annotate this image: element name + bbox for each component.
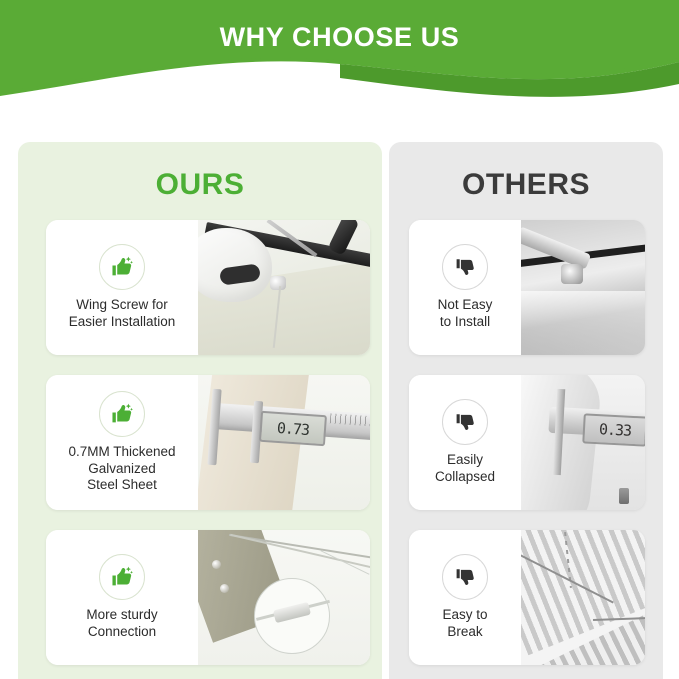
caption-line: Steel Sheet [68, 477, 175, 494]
feature-caption-others-3: Easy to Break [442, 607, 487, 640]
caption-line: to Install [438, 314, 493, 331]
feature-photo-others-2: 0.33 [521, 375, 645, 510]
caliper-display-others: 0.33 [582, 413, 645, 446]
feature-caption-ours-3: More sturdy Connection [86, 607, 157, 640]
column-heading-ours: OURS [18, 168, 382, 202]
thumbs-down-icon [442, 399, 488, 445]
feature-text-ours-1: Wing Screw for Easier Installation [46, 220, 198, 355]
feature-caption-ours-2: 0.7MM Thickened Galvanized Steel Sheet [68, 444, 175, 494]
caption-line: Collapsed [435, 469, 495, 486]
feature-caption-others-2: Easily Collapsed [435, 452, 495, 485]
feature-photo-others-3 [521, 530, 645, 665]
caption-line: Not Easy [438, 297, 493, 314]
feature-caption-others-1: Not Easy to Install [438, 297, 493, 330]
thumbs-up-icon [99, 391, 145, 437]
caption-line: Easy to [442, 607, 487, 624]
thumbs-up-icon [99, 244, 145, 290]
thumbs-down-icon [442, 244, 488, 290]
caliper-display-ours: 0.73 [259, 411, 327, 447]
feature-text-others-1: Not Easy to Install [409, 220, 521, 355]
feature-text-others-3: Easy to Break [409, 530, 521, 665]
column-heading-others: OTHERS [389, 168, 663, 202]
feature-caption-ours-1: Wing Screw for Easier Installation [69, 297, 176, 330]
feature-photo-ours-1 [198, 220, 370, 355]
feature-row-others-3[interactable]: Easy to Break [409, 530, 645, 665]
feature-text-ours-2: 0.7MM Thickened Galvanized Steel Sheet [46, 375, 198, 510]
feature-text-others-2: Easily Collapsed [409, 375, 521, 510]
caliper-reading: 0.33 [598, 420, 631, 440]
caption-line: 0.7MM Thickened [68, 444, 175, 461]
caption-line: Galvanized [68, 461, 175, 478]
caption-line: More sturdy [86, 607, 157, 624]
header-banner: WHY CHOOSE US [0, 0, 679, 100]
caption-line: Connection [86, 624, 157, 641]
page-title: WHY CHOOSE US [0, 22, 679, 53]
caption-line: Wing Screw for [69, 297, 176, 314]
feature-photo-others-1 [521, 220, 645, 355]
why-choose-us-infographic: WHY CHOOSE US OURS [0, 0, 679, 679]
column-others: OTHERS Not Easy to Install [389, 142, 663, 679]
feature-row-ours-2[interactable]: 0.7MM Thickened Galvanized Steel Sheet 0… [46, 375, 370, 510]
thumbs-down-icon [442, 554, 488, 600]
column-ours: OURS Wing Screw for Easier Instal [18, 142, 382, 679]
feature-photo-ours-3 [198, 530, 370, 665]
caliper-reading: 0.73 [276, 418, 309, 438]
caption-line: Easier Installation [69, 314, 176, 331]
feature-row-others-1[interactable]: Not Easy to Install [409, 220, 645, 355]
comparison-columns: OURS Wing Screw for Easier Instal [0, 142, 679, 679]
feature-text-ours-3: More sturdy Connection [46, 530, 198, 665]
feature-photo-ours-2: 0.73 [198, 375, 370, 510]
feature-row-ours-3[interactable]: More sturdy Connection [46, 530, 370, 665]
thumbs-up-icon [99, 554, 145, 600]
feature-row-ours-1[interactable]: Wing Screw for Easier Installation [46, 220, 370, 355]
feature-row-others-2[interactable]: Easily Collapsed 0.33 [409, 375, 645, 510]
caption-line: Easily [435, 452, 495, 469]
caption-line: Break [442, 624, 487, 641]
